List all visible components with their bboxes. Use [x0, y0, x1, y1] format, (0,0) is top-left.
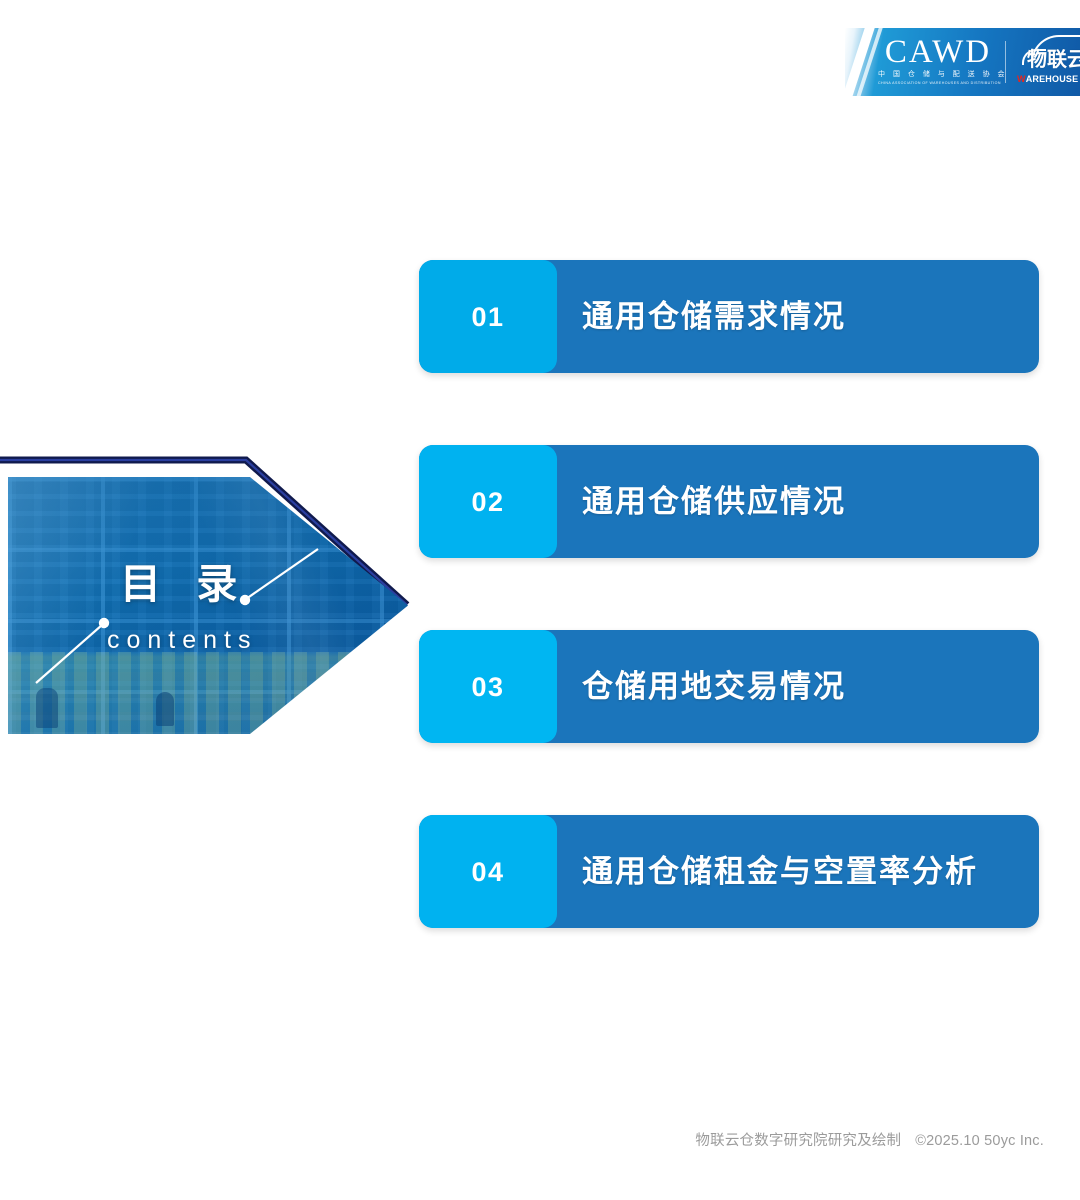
toc-item-01-label: 通用仓储需求情况	[582, 260, 846, 373]
contents-title: 目 录	[120, 561, 249, 607]
toc-item-02-label: 通用仓储供应情况	[582, 445, 846, 558]
table-of-contents-list: 01 通用仓储需求情况 02 通用仓储供应情况 03 仓储用地交易情况 04 通…	[419, 260, 1039, 1000]
footer-copyright: ©2025.10 50yc Inc.	[915, 1133, 1044, 1149]
toc-item-02-number-badge[interactable]: 02	[419, 445, 557, 558]
wic-en-arehouse: AREHOUSE	[1026, 74, 1079, 84]
toc-item-04[interactable]: 04 通用仓储租金与空置率分析	[419, 815, 1039, 928]
cawd-english-name: CHINA ASSOCIATION OF WAREHOUSES AND DIST…	[878, 80, 998, 86]
toc-item-02[interactable]: 02 通用仓储供应情况	[419, 445, 1039, 558]
toc-item-03-label: 仓储用地交易情况	[582, 630, 846, 743]
toc-item-02-number: 02	[471, 487, 504, 517]
toc-item-03-number-badge[interactable]: 03	[419, 630, 557, 743]
footer-credit: 物联云仓数字研究院研究及绘制	[695, 1133, 901, 1149]
toc-item-01-number-badge[interactable]: 01	[419, 260, 557, 373]
toc-item-01-number: 01	[471, 302, 504, 332]
wic-en-w: W	[1017, 74, 1026, 84]
contents-graphic-panel: 目 录 contents	[0, 455, 412, 740]
cawd-logo: CAWD 中 国 仓 储 与 配 送 协 会 CHINA ASSOCIATION…	[878, 34, 998, 87]
cawd-chinese-name: 中 国 仓 储 与 配 送 协 会	[878, 70, 998, 80]
toc-item-03[interactable]: 03 仓储用地交易情况	[419, 630, 1039, 743]
warehouse-in-cloud-logo: 物联云仓 WAREHOUSE IN CLOUD	[1017, 35, 1080, 91]
wic-english-name: WAREHOUSE IN CLOUD	[1017, 73, 1080, 85]
wic-chinese-name: 物联云仓	[1017, 49, 1080, 71]
toc-item-01[interactable]: 01 通用仓储需求情况	[419, 260, 1039, 373]
contents-subtitle: contents	[107, 625, 258, 655]
header-logo-band: CAWD 中 国 仓 储 与 配 送 协 会 CHINA ASSOCIATION…	[845, 28, 1080, 96]
toc-item-03-number: 03	[471, 672, 504, 702]
toc-item-04-label: 通用仓储租金与空置率分析	[582, 815, 978, 928]
toc-item-04-number-badge[interactable]: 04	[419, 815, 557, 928]
cawd-wordmark: CAWD	[878, 34, 998, 70]
footer: 物联云仓数字研究院研究及绘制©2025.10 50yc Inc.	[0, 1131, 1044, 1151]
logo-divider	[1005, 41, 1006, 83]
toc-item-04-number: 04	[471, 857, 504, 887]
